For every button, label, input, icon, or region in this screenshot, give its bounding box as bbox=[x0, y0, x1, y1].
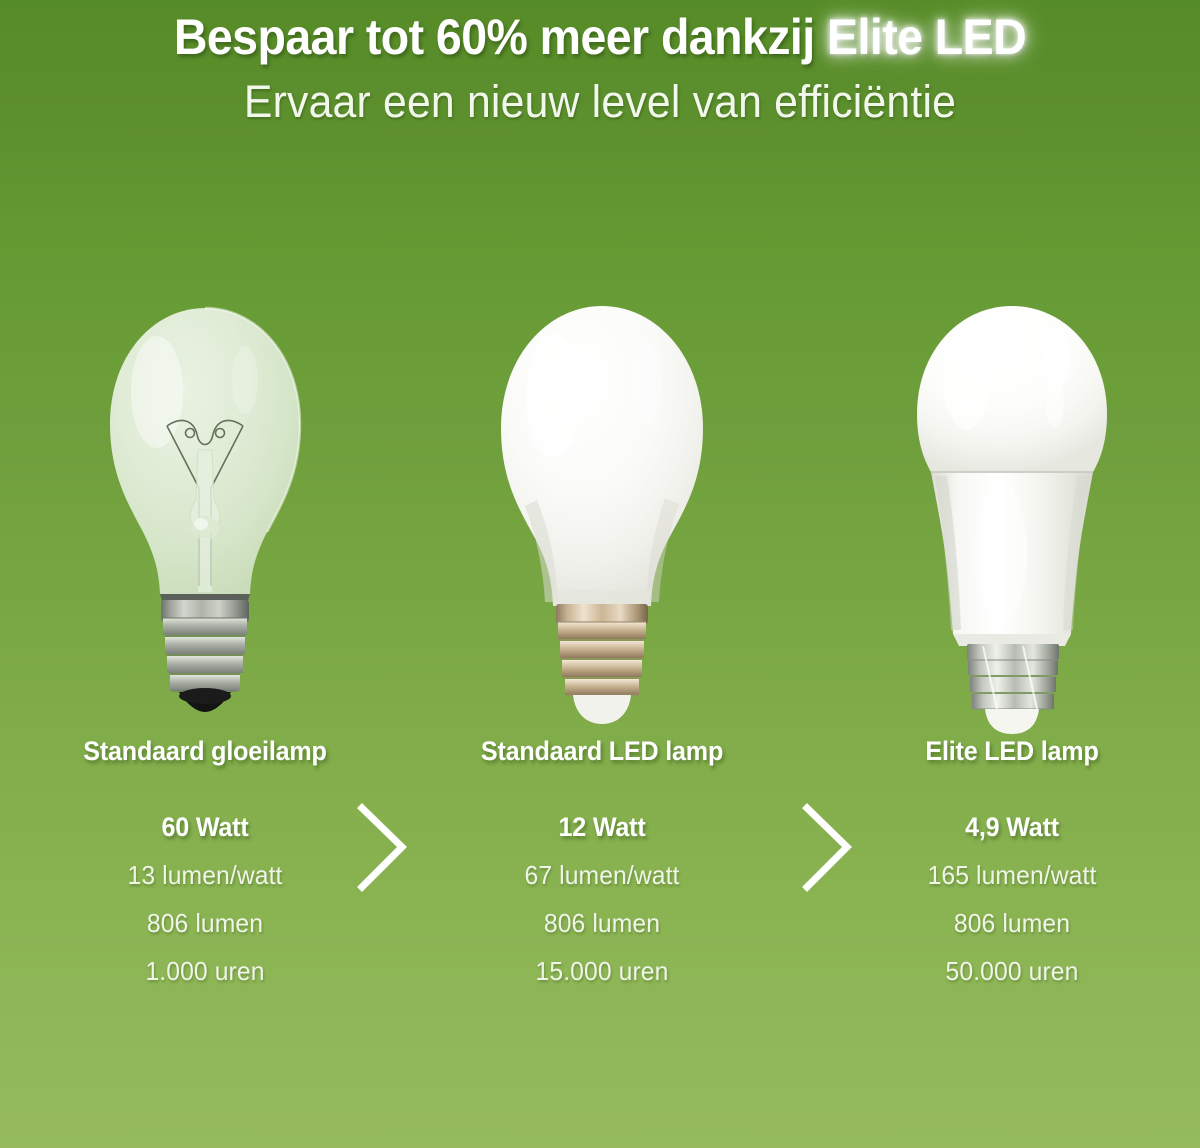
spec-watt: 4,9 Watt bbox=[863, 812, 1161, 843]
headline-prefix: Bespaar tot 60% meer dankzij bbox=[174, 9, 827, 65]
spec-column-incandescent: 60 Watt 13 lumen/watt 806 lumen 1.000 ur… bbox=[45, 812, 365, 987]
brand-name: Elite LED bbox=[827, 9, 1026, 65]
bulb-label-elite-led: Elite LED lamp bbox=[863, 736, 1161, 767]
incandescent-bulb bbox=[95, 300, 315, 740]
spec-efficacy: 67 lumen/watt bbox=[450, 860, 754, 891]
spec-lumen: 806 lumen bbox=[450, 908, 754, 939]
spec-column-standard-led: 12 Watt 67 lumen/watt 806 lumen 15.000 u… bbox=[442, 812, 762, 987]
page-title: Bespaar tot 60% meer dankzij Elite LED bbox=[42, 0, 1158, 66]
spec-lifetime: 15.000 uren bbox=[450, 956, 754, 987]
bulb-comparison-row bbox=[0, 300, 1200, 750]
elite-led-bulb bbox=[905, 300, 1120, 740]
bulb-label-incandescent: Standaard gloeilamp bbox=[56, 736, 354, 767]
elite-led-bulb-icon bbox=[905, 300, 1120, 740]
spec-column-elite-led: 4,9 Watt 165 lumen/watt 806 lumen 50.000… bbox=[852, 812, 1172, 987]
spec-lumen: 806 lumen bbox=[860, 908, 1164, 939]
spec-efficacy: 13 lumen/watt bbox=[53, 860, 357, 891]
spec-lumen: 806 lumen bbox=[53, 908, 357, 939]
standard-led-bulb-icon bbox=[487, 300, 717, 740]
spec-watt: 12 Watt bbox=[453, 812, 751, 843]
page-subtitle: Ervaar een nieuw level van efficiëntie bbox=[30, 66, 1170, 128]
bulb-label-row: Standaard gloeilamp Standaard LED lamp E… bbox=[0, 736, 1200, 782]
spec-efficacy: 165 lumen/watt bbox=[860, 860, 1164, 891]
spec-lifetime: 50.000 uren bbox=[860, 956, 1164, 987]
incandescent-bulb-icon bbox=[95, 300, 315, 740]
header: Bespaar tot 60% meer dankzij Elite LED E… bbox=[0, 0, 1200, 128]
bulb-label-standard-led: Standaard LED lamp bbox=[453, 736, 751, 767]
spec-lifetime: 1.000 uren bbox=[53, 956, 357, 987]
standard-led-bulb bbox=[487, 300, 717, 740]
chevron-right-icon bbox=[797, 800, 857, 895]
promo-infographic: Bespaar tot 60% meer dankzij Elite LED E… bbox=[0, 0, 1200, 1148]
spec-watt: 60 Watt bbox=[56, 812, 354, 843]
